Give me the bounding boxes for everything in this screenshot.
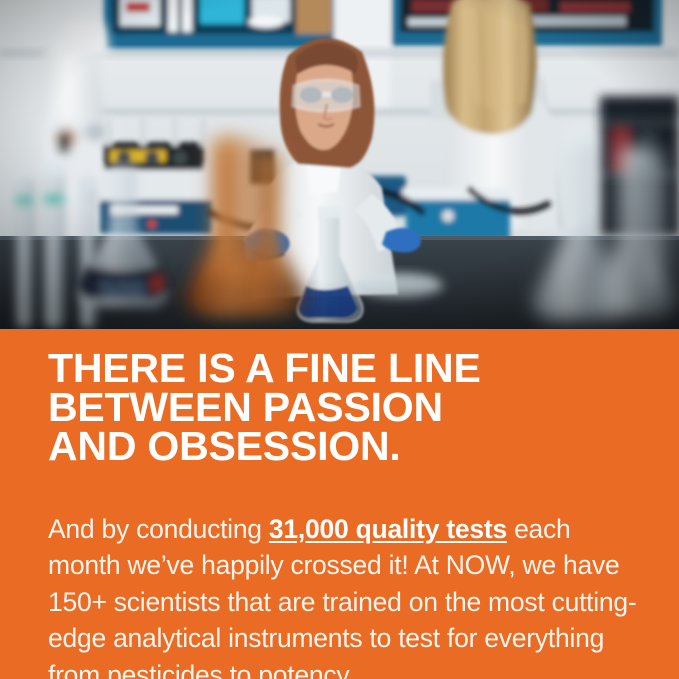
advertisement-banner: 500 (0, 0, 679, 679)
laboratory-photo: 500 (0, 0, 679, 329)
body-copy: And by conducting 31,000 quality tests e… (48, 511, 638, 679)
orange-copy-panel: THERE IS A FINE LINE BETWEEN PASSION AND… (0, 329, 679, 679)
body-copy-part-1: And by conducting (48, 514, 269, 544)
photo-vignette (0, 0, 679, 329)
headline: THERE IS A FINE LINE BETWEEN PASSION AND… (48, 349, 648, 466)
laboratory-photo-illustration: 500 (0, 0, 679, 329)
body-copy-highlight: 31,000 quality tests (269, 514, 507, 544)
